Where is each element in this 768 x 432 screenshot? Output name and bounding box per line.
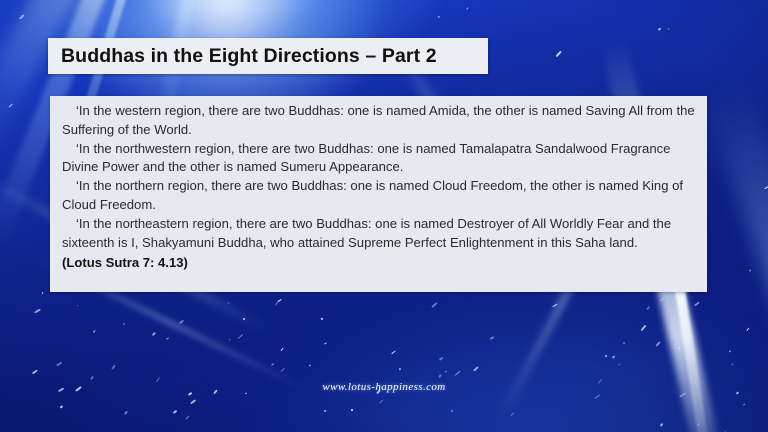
- source-citation: (Lotus Sutra 7: 4.13): [62, 255, 697, 270]
- title-banner: Buddhas in the Eight Directions – Part 2: [48, 38, 488, 74]
- footer-website-url: www.lotus-happiness.com: [0, 381, 768, 393]
- page-title: Buddhas in the Eight Directions – Part 2: [48, 45, 437, 68]
- body-paragraph: ‘In the western region, there are two Bu…: [62, 102, 697, 139]
- slide-canvas: Buddhas in the Eight Directions – Part 2…: [0, 0, 768, 432]
- content-panel: ‘In the western region, there are two Bu…: [50, 96, 707, 292]
- body-paragraph: ‘In the northwestern region, there are t…: [62, 140, 697, 177]
- body-paragraph: ‘In the northeastern region, there are t…: [62, 215, 697, 252]
- body-paragraph: ‘In the northern region, there are two B…: [62, 177, 697, 214]
